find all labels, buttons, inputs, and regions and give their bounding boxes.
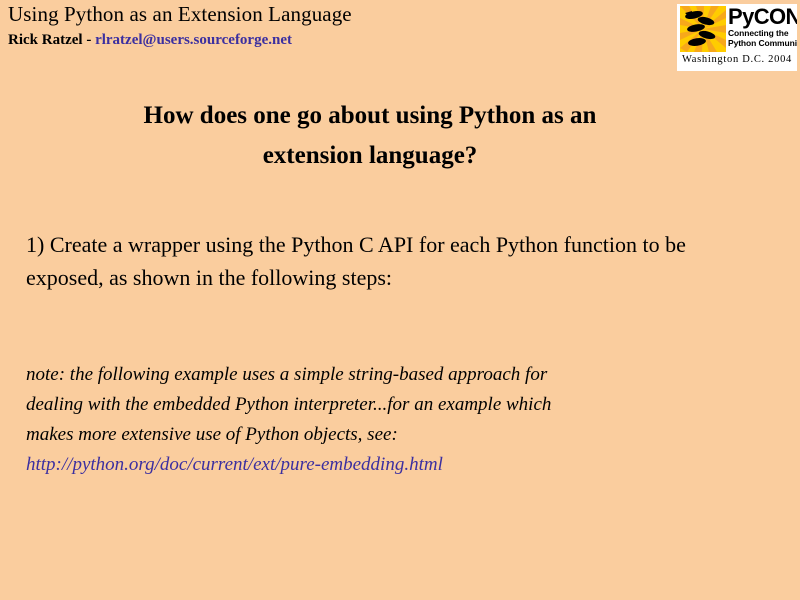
slide-header: Using Python as an Extension Language Ri… bbox=[0, 0, 800, 80]
note-line-2: dealing with the embedded Python interpr… bbox=[26, 390, 726, 420]
note-url-link[interactable]: http://python.org/doc/current/ext/pure-e… bbox=[26, 450, 726, 480]
pycon-sunburst-icon bbox=[680, 6, 726, 52]
note-block: note: the following example uses a simpl… bbox=[26, 360, 726, 480]
note-line-1: note: the following example uses a simpl… bbox=[26, 360, 726, 390]
note-line-3: makes more extensive use of Python objec… bbox=[26, 420, 726, 450]
header-title: Using Python as an Extension Language bbox=[8, 2, 352, 26]
header-author: Rick Ratzel bbox=[8, 32, 83, 48]
pycon-logo: PyCON Connecting the Python Community Wa… bbox=[677, 4, 797, 71]
slide-title-line1: How does one go about using Python as an bbox=[60, 96, 680, 136]
header-email-link[interactable]: rlratzel@users.sourceforge.net bbox=[95, 32, 292, 48]
slide-title: How does one go about using Python as an… bbox=[60, 96, 680, 176]
slide-title-line2: extension language? bbox=[60, 136, 680, 176]
pycon-tagline-line2: Python Community bbox=[728, 38, 796, 48]
pycon-wordmark-text: PyCON bbox=[728, 5, 796, 28]
pycon-logo-main: PyCON Connecting the Python Community bbox=[677, 4, 797, 54]
pycon-location-text: Washington D.C. 2004 bbox=[677, 54, 797, 65]
header-byline: Rick Ratzel - rlratzel@users.sourceforge… bbox=[8, 31, 292, 49]
body-step-1: 1) Create a wrapper using the Python C A… bbox=[26, 228, 716, 294]
pycon-tagline-line1: Connecting the bbox=[728, 28, 796, 38]
pycon-wordmark: PyCON Connecting the Python Community bbox=[728, 5, 796, 48]
header-separator: - bbox=[83, 32, 96, 48]
